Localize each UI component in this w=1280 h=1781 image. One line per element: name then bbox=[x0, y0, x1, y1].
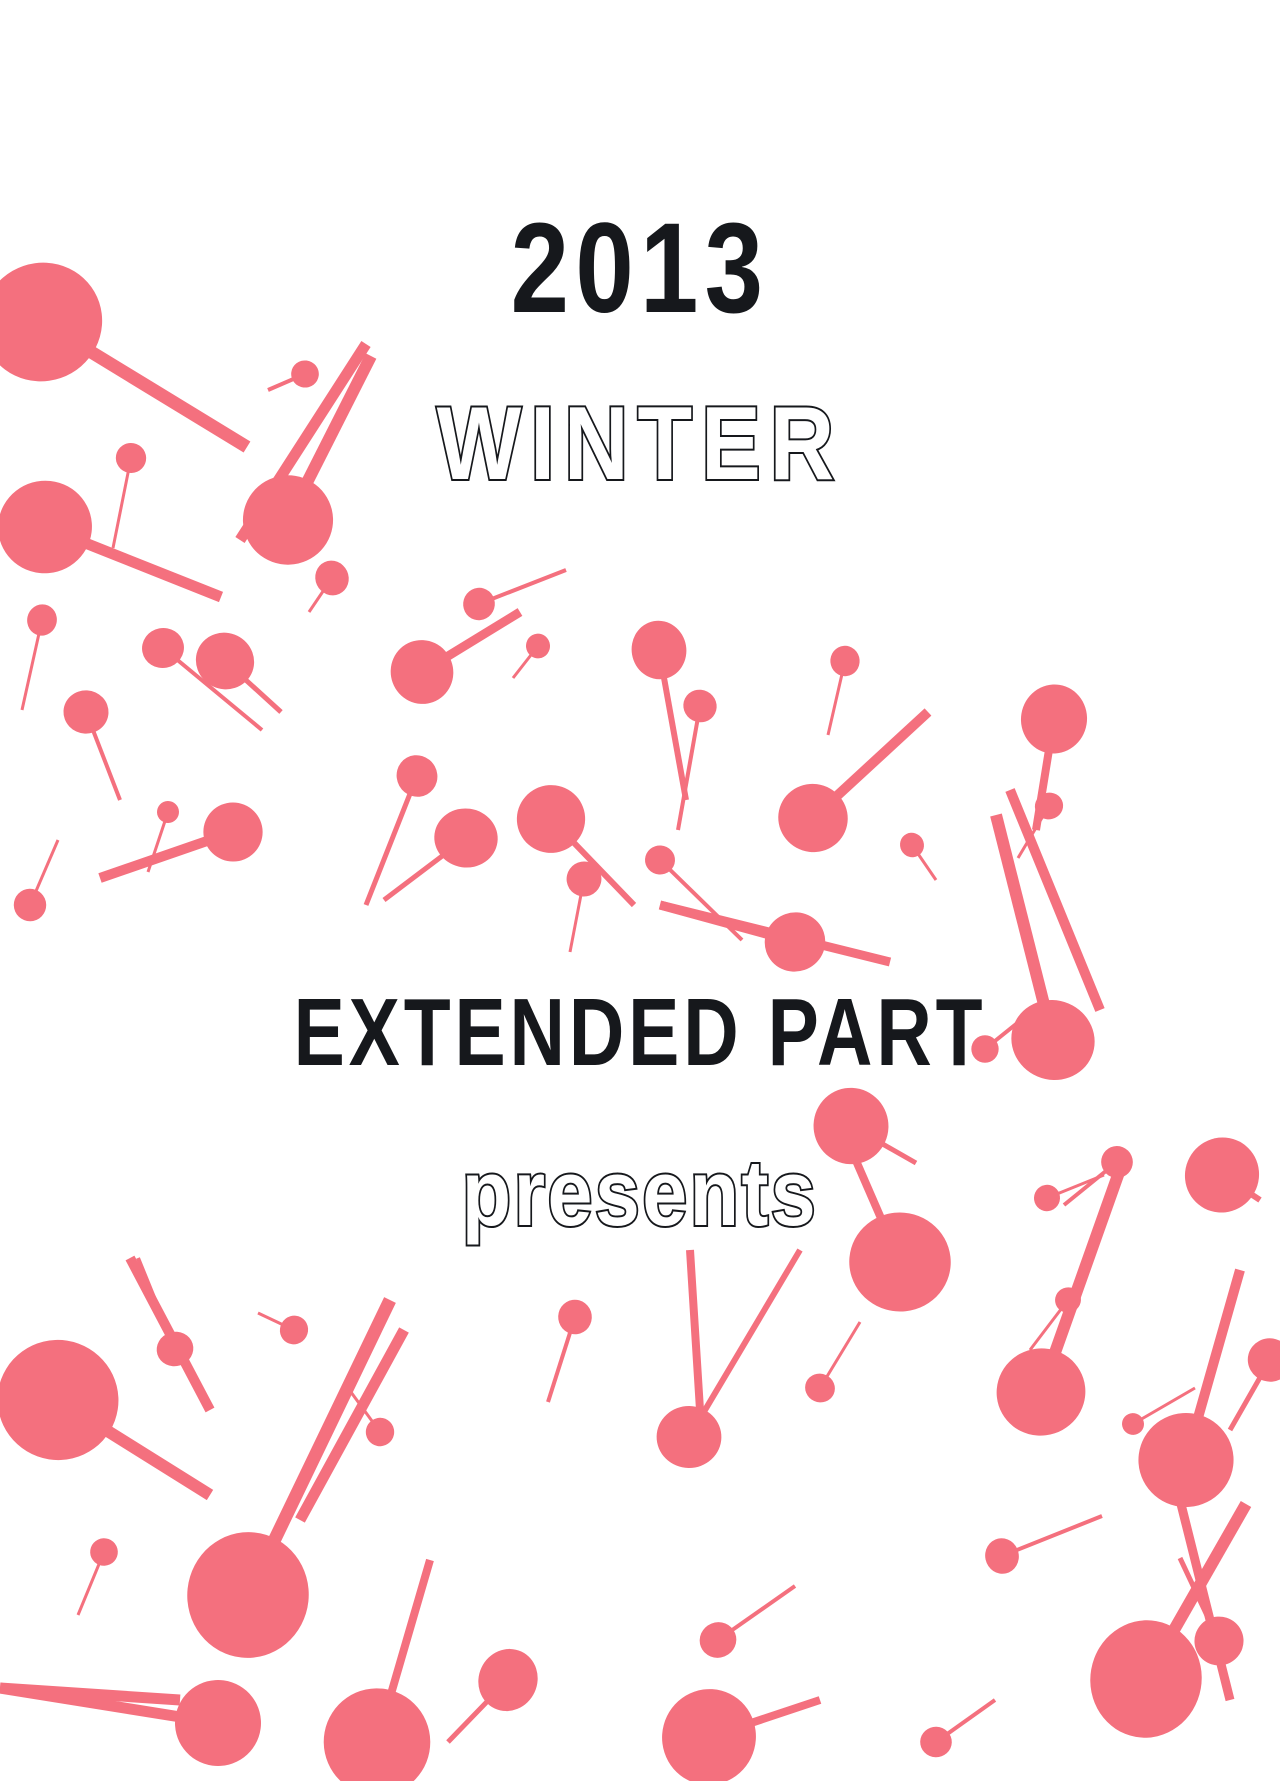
pin-dot bbox=[627, 616, 691, 683]
pin-dot bbox=[694, 1617, 741, 1664]
pin-dot bbox=[920, 1726, 953, 1758]
pin-dot bbox=[89, 1538, 118, 1567]
pin-dot bbox=[971, 1035, 998, 1063]
pin-dot bbox=[62, 689, 109, 735]
pin-dot bbox=[314, 1678, 440, 1781]
pin-dot bbox=[0, 241, 124, 404]
pin-dot bbox=[241, 474, 334, 566]
pin-dot bbox=[1135, 1410, 1236, 1510]
pin-dot bbox=[430, 804, 501, 871]
decorative-pin-pattern bbox=[0, 0, 1280, 1781]
pin-stem bbox=[366, 776, 417, 905]
pin-dot bbox=[656, 1405, 722, 1468]
poster-canvas: 2013 WINTER EXTENDED PART presents bbox=[0, 0, 1280, 1781]
pin-dot bbox=[757, 904, 834, 980]
pin-dot bbox=[808, 1082, 894, 1169]
pin-dot bbox=[1081, 1611, 1211, 1746]
pin-dot bbox=[0, 470, 103, 585]
pin-dot bbox=[157, 801, 179, 823]
pin-dot bbox=[363, 1415, 396, 1448]
pin-dot bbox=[651, 1679, 766, 1781]
pin-dot bbox=[985, 1337, 1096, 1447]
pin-dot bbox=[161, 1666, 276, 1781]
pin-dot bbox=[1243, 1333, 1280, 1387]
pin-dot bbox=[1172, 1124, 1273, 1225]
pin-dot bbox=[24, 602, 60, 639]
pin-dot bbox=[1031, 1182, 1063, 1214]
pin-dot bbox=[111, 439, 150, 478]
pin-dot bbox=[829, 645, 861, 678]
pin-dot bbox=[310, 555, 355, 601]
pin-dot bbox=[181, 1526, 315, 1664]
pin-dot bbox=[982, 1535, 1023, 1577]
pattern-dot-group bbox=[0, 241, 1280, 1781]
pin-dot bbox=[1016, 680, 1092, 759]
pin-dot bbox=[382, 631, 463, 713]
pattern-line bbox=[690, 1250, 700, 1410]
pin-dot bbox=[290, 359, 321, 389]
pin-dot bbox=[275, 1311, 314, 1350]
pin-dot bbox=[845, 1208, 955, 1315]
pin-dot bbox=[389, 748, 445, 804]
pin-dot bbox=[459, 584, 499, 624]
pin-dot bbox=[556, 1298, 594, 1337]
pin-dot bbox=[999, 987, 1107, 1093]
pin-dot bbox=[1119, 1410, 1147, 1438]
pin-dot bbox=[0, 1323, 135, 1477]
pin-stem bbox=[689, 1250, 800, 1437]
pin-dot bbox=[9, 884, 52, 927]
pin-dot bbox=[678, 684, 723, 728]
pin-dot bbox=[800, 1369, 839, 1407]
pin-dot bbox=[194, 794, 271, 871]
pin-dot bbox=[896, 829, 929, 862]
